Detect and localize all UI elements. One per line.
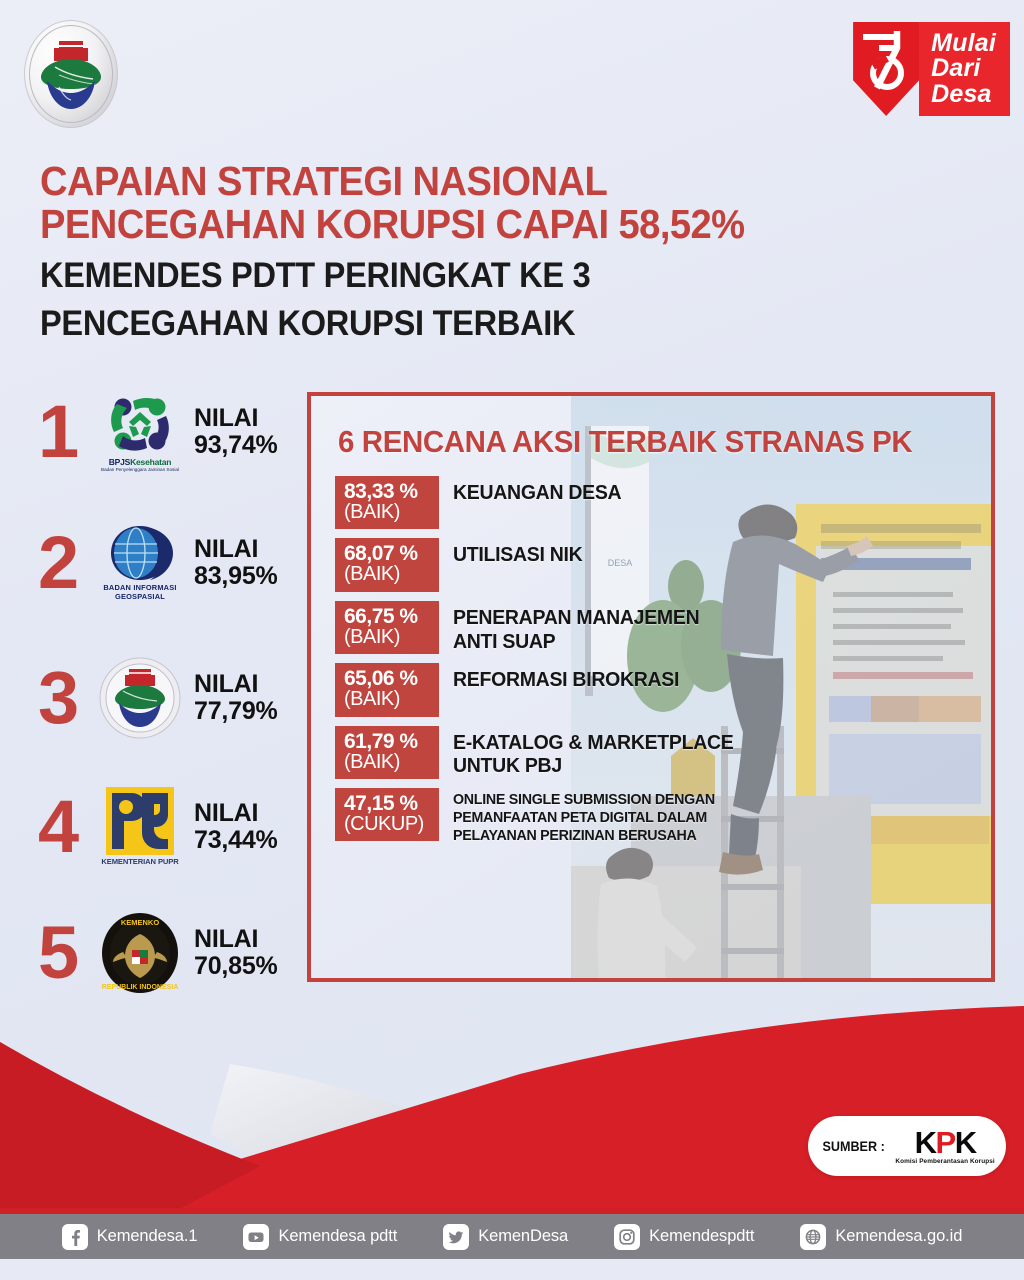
score-value: 73,44% <box>194 827 278 854</box>
action-score-badge: 68,07 % (BAIK) <box>335 538 439 591</box>
action-category: (CUKUP) <box>344 814 430 834</box>
kpk-letter-k1: K <box>915 1125 936 1160</box>
action-category: (BAIK) <box>344 689 430 709</box>
bottom-padding <box>0 1259 1024 1280</box>
kpk-acronym: KPK <box>895 1127 994 1158</box>
action-label: E-KATALOG & MARKETPLACE UNTUK PBJ <box>453 726 734 779</box>
action-category: (BAIK) <box>344 627 430 647</box>
action-score-badge: 61,79 % (BAIK) <box>335 726 439 779</box>
social-label: KemenDesa <box>478 1227 568 1246</box>
svg-text:KEMENKO: KEMENKO <box>121 918 160 927</box>
action-category: (BAIK) <box>344 564 430 584</box>
headline-red-line-2: PENCEGAHAN KORUPSI CAPAI 58,52% <box>40 203 710 246</box>
social-link-youtube[interactable]: Kemendesa pdtt <box>243 1224 397 1250</box>
action-label-line: UTILISASI NIK <box>453 543 582 567</box>
social-label: Kemendesa pdtt <box>278 1227 397 1246</box>
pupr-emblem-icon <box>106 787 174 855</box>
bpjs-caption: BPJSKesehatan <box>109 457 172 467</box>
header: Mulai Dari Desa <box>0 0 1024 136</box>
action-label-line: PEMANFAATAN PETA DIGITAL DALAM <box>453 809 715 827</box>
slogan-line-3: Desa <box>931 82 996 108</box>
bpjs-emblem-icon <box>103 392 177 456</box>
rank-score: NILAI 83,95% <box>194 536 278 590</box>
action-score-badge: 83,33 % (BAIK) <box>335 476 439 529</box>
social-label: Kemendesa.go.id <box>835 1227 962 1246</box>
action-category: (BAIK) <box>344 752 430 772</box>
geospasial-caption-line-2: GEOSPASIAL <box>103 593 176 602</box>
geospasial-caption: BADAN INFORMASI GEOSPASIAL <box>103 584 176 602</box>
bpjs-caption-a: BPJS <box>109 457 130 467</box>
action-percent: 61,79 % <box>344 731 430 752</box>
anniversary-logo: Mulai Dari Desa <box>853 22 1010 116</box>
geospasial-globe-icon <box>105 524 175 582</box>
globe-icon <box>800 1224 826 1250</box>
svg-text:REPUBLIK INDONESIA: REPUBLIK INDONESIA <box>102 984 179 991</box>
badan-informasi-geospasial-logo: BADAN INFORMASI GEOSPASIAL <box>94 524 186 602</box>
rank-number: 2 <box>38 534 94 592</box>
action-label-line: KEUANGAN DESA <box>453 481 621 505</box>
kementerian-pupr-logo: KEMENTERIAN PUPR <box>94 787 186 866</box>
rank-score: NILAI 70,85% <box>194 926 278 980</box>
action-label: REFORMASI BIROKRASI <box>453 663 679 692</box>
action-percent: 68,07 % <box>344 543 430 564</box>
bpjs-caption-b: Kesehatan <box>130 457 171 467</box>
action-label: PENERAPAN MANAJEMEN ANTI SUAP <box>453 601 699 654</box>
action-label-line: UNTUK PBJ <box>453 754 734 778</box>
facebook-icon <box>62 1224 88 1250</box>
action-label: KEUANGAN DESA <box>453 476 621 505</box>
action-label-line: ANTI SUAP <box>453 630 699 654</box>
action-label-line: PENERAPAN MANAJEMEN <box>453 606 699 630</box>
score-label: NILAI <box>194 536 278 563</box>
instagram-icon <box>614 1224 640 1250</box>
rank-score: NILAI 73,44% <box>194 800 278 854</box>
title-block: CAPAIAN STRATEGI NASIONAL PENCEGAHAN KOR… <box>40 160 760 343</box>
bpjs-kesehatan-logo: BPJSKesehatan Badan Penyelenggara Jamina… <box>94 392 186 472</box>
action-list: 83,33 % (BAIK) KEUANGAN DESA 68,07 % (BA… <box>335 476 975 854</box>
bpjs-subcaption: Badan Penyelenggara Jaminan Sosial <box>101 467 179 472</box>
anniversary-slogan: Mulai Dari Desa <box>919 22 1010 116</box>
score-value: 70,85% <box>194 953 278 980</box>
action-label: ONLINE SINGLE SUBMISSION DENGAN PEMANFAA… <box>453 788 715 845</box>
kemendes-pdtt-logo <box>94 657 186 739</box>
action-percent: 66,75 % <box>344 606 430 627</box>
action-percent: 65,06 % <box>344 668 430 689</box>
action-label-line: E-KATALOG & MARKETPLACE <box>453 731 734 755</box>
source-badge: SUMBER : KPK Komisi Pemberantasan Korups… <box>808 1116 1006 1176</box>
action-label-line: PELAYANAN PERIZINAN BERUSAHA <box>453 827 715 845</box>
rank-score: NILAI 93,74% <box>194 405 278 459</box>
action-label-line: REFORMASI BIROKRASI <box>453 668 679 692</box>
social-link-facebook[interactable]: Kemendesa.1 <box>62 1224 198 1250</box>
rank-row: 3 NILAI 77,79% <box>38 657 278 739</box>
subheadline-black-line-1: KEMENDES PDTT PERINGKAT KE 3 <box>40 256 710 295</box>
rank-row: 5 KEMENKO REPUBLIK INDONESIA NILAI 70 <box>38 912 278 994</box>
panel-title: 6 RENCANA AKSI TERBAIK STRANAS PK <box>338 424 912 460</box>
social-link-website[interactable]: Kemendesa.go.id <box>800 1224 962 1250</box>
social-link-twitter[interactable]: KemenDesa <box>443 1224 568 1250</box>
source-prefix: SUMBER : <box>823 1138 885 1154</box>
rank-row: 2 BADAN INFORMASI GEOSPASIAL NILAI <box>38 524 278 602</box>
twitter-icon <box>443 1224 469 1250</box>
social-link-instagram[interactable]: Kemendespdtt <box>614 1224 754 1250</box>
action-row: 83,33 % (BAIK) KEUANGAN DESA <box>335 476 975 529</box>
action-category: (BAIK) <box>344 502 430 522</box>
rank-number: 3 <box>38 669 94 727</box>
slogan-line-1: Mulai <box>931 31 996 57</box>
action-label-line: ONLINE SINGLE SUBMISSION DENGAN <box>453 791 715 809</box>
score-value: 77,79% <box>194 698 278 725</box>
polhukam-seal-icon: KEMENKO REPUBLIK INDONESIA <box>101 912 179 994</box>
kpk-subtitle: Komisi Pemberantasan Korupsi <box>895 1159 994 1165</box>
rank-row: 1 BPJSKesehatan Ba <box>38 392 278 472</box>
action-row: 47,15 % (CUKUP) ONLINE SINGLE SUBMISSION… <box>335 788 975 845</box>
kpk-logo: KPK Komisi Pemberantasan Korupsi <box>895 1127 994 1165</box>
score-label: NILAI <box>194 800 278 827</box>
action-row: 61,79 % (BAIK) E-KATALOG & MARKETPLACE U… <box>335 726 975 779</box>
rank-number: 5 <box>38 924 94 982</box>
social-footer: Kemendesa.1 Kemendesa pdtt KemenDesa Kem… <box>0 1214 1024 1259</box>
action-row: 65,06 % (BAIK) REFORMASI BIROKRASI <box>335 663 975 716</box>
action-row: 68,07 % (BAIK) UTILISASI NIK <box>335 538 975 591</box>
rank-number: 1 <box>38 403 94 461</box>
seventy-five-glyph-icon <box>857 26 915 98</box>
headline-red-line-1: CAPAIAN STRATEGI NASIONAL <box>40 160 710 203</box>
action-score-badge: 65,06 % (BAIK) <box>335 663 439 716</box>
subheadline-black-line-2: PENCEGAHAN KORUPSI TERBAIK <box>40 304 710 343</box>
kpk-letter-k2: K <box>955 1125 976 1160</box>
kemendes-pdtt-seal <box>24 20 118 128</box>
action-score-badge: 47,15 % (CUKUP) <box>335 788 439 841</box>
shield-75-icon <box>853 22 919 116</box>
social-label: Kemendesa.1 <box>97 1227 198 1246</box>
score-label: NILAI <box>194 926 278 953</box>
kemendes-seal-icon <box>99 657 181 739</box>
action-row: 66,75 % (BAIK) PENERAPAN MANAJEMEN ANTI … <box>335 601 975 654</box>
score-label: NILAI <box>194 405 278 432</box>
youtube-icon <box>243 1224 269 1250</box>
rank-number: 4 <box>38 798 94 856</box>
score-value: 93,74% <box>194 432 278 459</box>
action-score-badge: 66,75 % (BAIK) <box>335 601 439 654</box>
action-percent: 83,33 % <box>344 481 430 502</box>
red-wave-decoration <box>0 984 1024 1214</box>
score-value: 83,95% <box>194 563 278 590</box>
seal-emblem-icon <box>37 37 105 111</box>
kpk-letter-p: P <box>936 1125 955 1160</box>
rank-score: NILAI 77,79% <box>194 671 278 725</box>
action-label: UTILISASI NIK <box>453 538 582 567</box>
action-percent: 47,15 % <box>344 793 430 814</box>
infographic-page: Mulai Dari Desa CAPAIAN STRATEGI NASIONA… <box>0 0 1024 1280</box>
social-label: Kemendespdtt <box>649 1227 754 1246</box>
kemenko-polhukam-logo: KEMENKO REPUBLIK INDONESIA <box>94 912 186 994</box>
rank-row: 4 KEMENTERIAN PUPR NILAI 73,44% <box>38 787 278 866</box>
pupr-caption: KEMENTERIAN PUPR <box>101 857 178 866</box>
slogan-line-2: Dari <box>931 56 996 82</box>
action-plan-panel: DESA <box>307 392 995 982</box>
score-label: NILAI <box>194 671 278 698</box>
